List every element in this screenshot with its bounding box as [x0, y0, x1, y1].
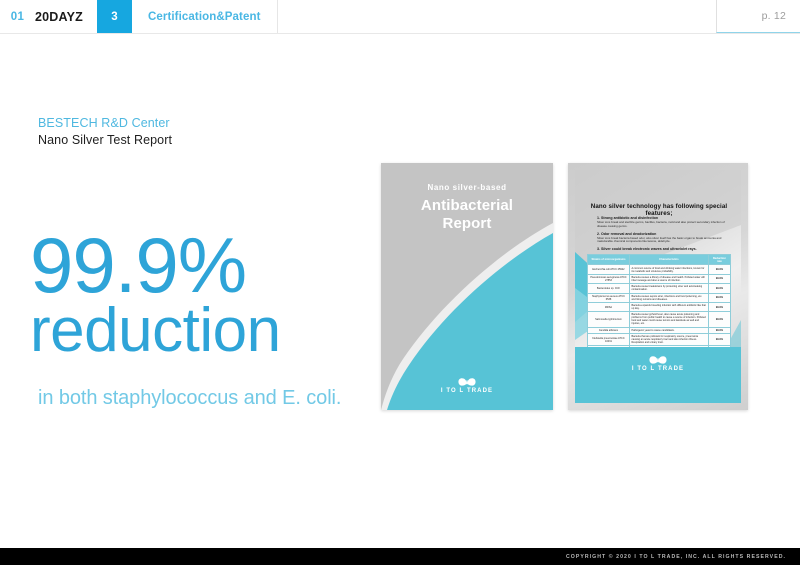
- list-item-body: Silver ions break and sterilize germs, b…: [597, 221, 729, 229]
- table-col-characteristics: Characteristics: [629, 255, 708, 265]
- table-cell: 99.9%: [708, 284, 730, 293]
- slide-footer: COPYRIGHT © 2020 I TO L TRADE, INC. ALL …: [0, 548, 800, 565]
- slide-header: 01 20DAYZ 3 Certification&Patent p. 12: [0, 0, 800, 33]
- table-cell: A common source of food and drinking wat…: [629, 265, 708, 274]
- table-cell: 99.9%: [708, 265, 730, 274]
- table-cell: Bacteria causes sepsis ulcer, infections…: [629, 293, 708, 302]
- report-subtitle: Nano Silver Test Report: [38, 133, 172, 147]
- cover-title: AntibacterialReport: [381, 197, 553, 234]
- table-col-strains: Strains of microorganisms: [588, 255, 630, 265]
- cover-kicker: Nano silver-based: [381, 183, 553, 192]
- list-item: 3. Silver could break electronic waves a…: [597, 247, 729, 251]
- list-item: 2. Odor removal and deodorization Silver…: [597, 232, 729, 245]
- table-row: Klebsiella pneumoniae ATCC 10031Bacteria…: [588, 334, 731, 346]
- table-row: Escherichia coli ATCC 25922A common sour…: [588, 265, 731, 274]
- brand-label: 20DAYZ: [35, 0, 97, 33]
- table-cell: Bacteria cause breakdowns by protecting …: [629, 284, 708, 293]
- table-header-row: Strains of microorganisms Characteristic…: [588, 255, 731, 265]
- table-cell: Bacteria that are pollutant for respirat…: [629, 334, 708, 346]
- table-col-reduction: Reduction rate: [708, 255, 730, 265]
- inner-results-table: Strains of microorganisms Characteristic…: [587, 254, 731, 356]
- table-row: Bacteroides sp. CCFBacteria cause breakd…: [588, 284, 731, 293]
- table-cell: Bacteria causes a library of disease and…: [629, 274, 708, 283]
- cover-logo-text: I TO L TRADE: [441, 388, 493, 394]
- table-row: Salmonella typhimuriumBacteria cause typ…: [588, 312, 731, 327]
- headline-tagline: in both staphylococcus and E. coli.: [38, 387, 341, 410]
- list-item: 1. Strong antibiotic and disinfection Si…: [597, 216, 729, 229]
- table-cell: Bacteria cause typhoid fever, also cause…: [629, 312, 708, 327]
- inner-logo-text: I TO L TRADE: [632, 366, 684, 372]
- header-divider: [0, 33, 800, 34]
- tab-certification-patent[interactable]: Certification&Patent: [132, 0, 278, 33]
- table-cell: 99.9%: [708, 293, 730, 302]
- table-row: Pseudomonas aeruginosa ATCC 27853Bacteri…: [588, 274, 731, 283]
- butterfly-icon: [649, 355, 667, 365]
- table-cell: Salmonella typhimurium: [588, 312, 630, 327]
- inner-sheet: Nano silver technology has following spe…: [575, 170, 741, 403]
- headline-word: reduction: [30, 300, 281, 362]
- document-inner-thumbnail[interactable]: Nano silver technology has following spe…: [568, 163, 748, 410]
- table-cell: Klebsiella pneumoniae ATCC 10031: [588, 334, 630, 346]
- cover-logo: I TO L TRADE: [381, 377, 553, 394]
- table-cell: Pseudomonas aeruginosa ATCC 27853: [588, 274, 630, 283]
- inner-logo: I TO L TRADE: [575, 347, 741, 403]
- butterfly-icon: [458, 377, 476, 387]
- header-tab-group: 01 20DAYZ 3 Certification&Patent: [0, 0, 278, 33]
- copyright-text: COPYRIGHT © 2020 I TO L TRADE, INC. ALL …: [566, 554, 786, 560]
- section-number: 01: [0, 0, 35, 33]
- table-row: MRSABacteria expands breeding infection …: [588, 302, 731, 311]
- list-item-title: 3. Silver could break electronic waves a…: [597, 247, 729, 251]
- page-indicator-label: p. 12: [762, 10, 786, 22]
- table-cell: Staphylococcus aureus ATCC 6538: [588, 293, 630, 302]
- inner-heading: Nano silver technology has following spe…: [585, 203, 733, 217]
- page-indicator-box: p. 12: [716, 0, 800, 33]
- table-row: Staphylococcus aureus ATCC 6538Bacteria …: [588, 293, 731, 302]
- table-cell: 99.9%: [708, 334, 730, 346]
- table-body: Escherichia coli ATCC 25922A common sour…: [588, 265, 731, 355]
- table-cell: Bacteria expands breeding infection with…: [629, 302, 708, 311]
- inner-feature-list: 1. Strong antibiotic and disinfection Si…: [597, 216, 729, 255]
- table-cell: Escherichia coli ATCC 25922: [588, 265, 630, 274]
- table-cell: 99.9%: [708, 274, 730, 283]
- document-cover-thumbnail[interactable]: Nano silver-based AntibacterialReport I …: [381, 163, 553, 410]
- table-cell: MRSA: [588, 302, 630, 311]
- eyebrow-text: BESTECH R&D Center: [38, 116, 170, 130]
- list-item-body: Silver ions break bacteria based odor, a…: [597, 237, 729, 245]
- tab-number-active[interactable]: 3: [97, 0, 132, 33]
- headline-percentage: 99.9%: [30, 228, 246, 302]
- table-cell: 99.9%: [708, 312, 730, 327]
- table-cell: 99.9%: [708, 302, 730, 311]
- slide-canvas: 01 20DAYZ 3 Certification&Patent p. 12 B…: [0, 0, 800, 565]
- table-cell: Bacteroides sp. CCF: [588, 284, 630, 293]
